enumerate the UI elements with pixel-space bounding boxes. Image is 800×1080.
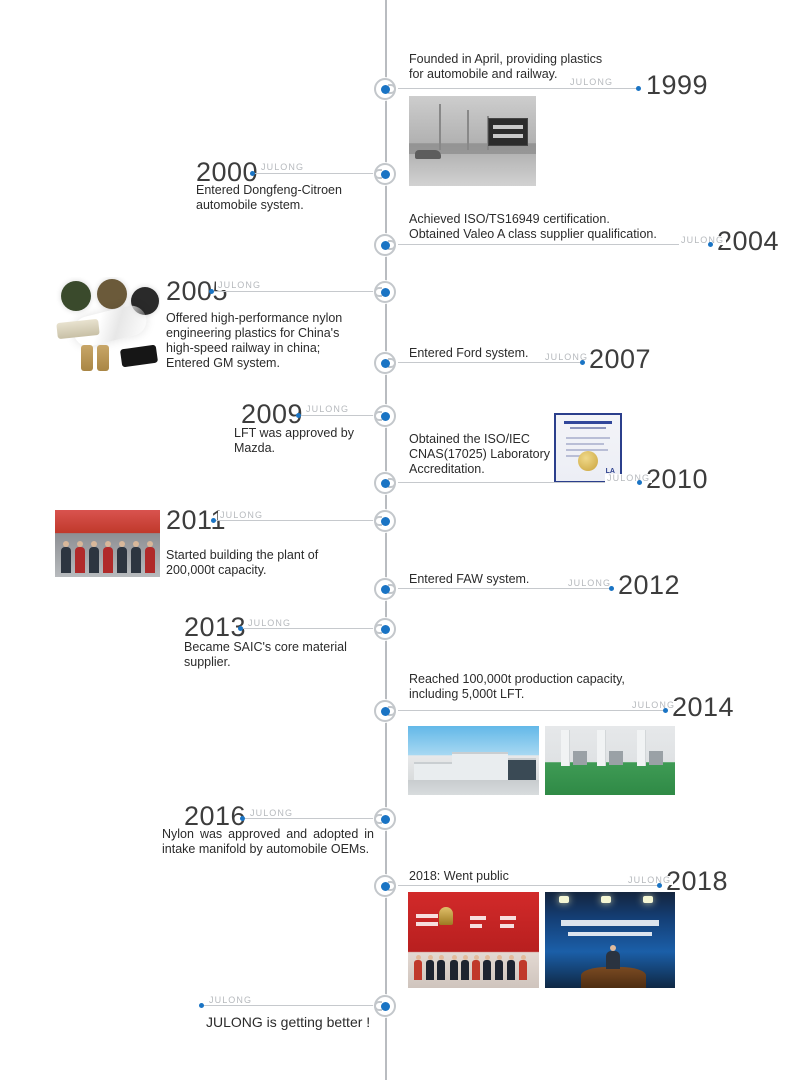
watermark-closing: JULONG (207, 996, 254, 1005)
photo-caption-strip (470, 924, 482, 928)
connector-rule-2014 (398, 710, 664, 711)
node-tab-icon (374, 1001, 382, 1011)
watermark-2010: JULONG (605, 474, 652, 483)
photo-person (61, 547, 71, 573)
connector-rule-2004 (398, 244, 708, 245)
event-description-2004: Achieved ISO/TS16949 certification. Obta… (409, 212, 699, 242)
connector-rule-2012 (398, 588, 610, 589)
node-tab-icon (388, 881, 396, 891)
connector-rule-closing (199, 1005, 374, 1006)
event-description-2018: 2018: Went public (409, 869, 629, 884)
watermark-2016: JULONG (248, 809, 295, 818)
node-tab-icon (388, 478, 396, 488)
photo-screen-title (561, 920, 660, 926)
connector-rule-2007 (398, 362, 580, 363)
photo-person (75, 547, 85, 573)
year-dot-2014 (663, 708, 668, 713)
photo-machine (573, 751, 587, 765)
event-description-2005: Offered high-performance nylon engineeri… (166, 311, 376, 371)
year-dot-2011 (211, 518, 216, 523)
year-dot-2000 (250, 171, 255, 176)
timeline-node-2013[interactable] (374, 618, 396, 640)
year-dot-closing (199, 1003, 204, 1008)
photo-column (597, 730, 606, 766)
timeline-node-2000[interactable] (374, 163, 396, 185)
year-label-2007: 2007 (589, 346, 651, 373)
photo-person (426, 960, 434, 980)
event-photo-2011 (55, 510, 160, 577)
photo-person (472, 960, 480, 980)
timeline-node-2005[interactable] (374, 281, 396, 303)
year-dot-2018 (657, 883, 662, 888)
year-label-2000: 2000 (196, 159, 258, 186)
connector-rule-2011 (211, 520, 374, 521)
watermark-2012: JULONG (566, 579, 613, 588)
photo-lamp (601, 896, 611, 903)
timeline-infographic: Founded in April, providing plastics for… (0, 0, 800, 1080)
connector-rule-2009 (296, 415, 374, 416)
event-photo-1999 (409, 96, 536, 186)
certificate-text-line (566, 443, 604, 445)
watermark-2000: JULONG (259, 163, 306, 172)
year-label-2013: 2013 (184, 614, 246, 641)
certificate-seal (578, 451, 598, 471)
year-dot-2016 (240, 816, 245, 821)
photo-pole (439, 104, 441, 150)
event-description-2012: Entered FAW system. (409, 572, 589, 587)
event-description-2009: LFT was approved by Mazda. (234, 426, 384, 456)
photo-ground (408, 780, 539, 795)
photo-person (606, 951, 620, 969)
year-dot-2005 (209, 289, 214, 294)
node-tab-icon (388, 706, 396, 716)
connector-rule-2010 (398, 482, 638, 483)
photo-person (89, 547, 99, 573)
product-rod (81, 345, 93, 371)
node-tab-icon (388, 84, 396, 94)
timeline-node-2014[interactable] (374, 700, 396, 722)
closing-statement: JULONG is getting better ! (206, 1014, 436, 1031)
event-description-2016: Nylon was approved and adopted in intake… (162, 827, 374, 857)
timeline-node-2012[interactable] (374, 578, 396, 600)
photo-person (117, 547, 127, 573)
year-label-2012: 2012 (618, 572, 680, 599)
timeline-node-2009[interactable] (374, 405, 396, 427)
timeline-node-1999[interactable] (374, 78, 396, 100)
photo-building (414, 762, 452, 780)
photo-building (452, 752, 508, 780)
node-tab-icon (374, 411, 382, 421)
sign-text-line (493, 125, 523, 129)
certificate-header-bar (564, 421, 612, 424)
timeline-node-2007[interactable] (374, 352, 396, 374)
product-rod (97, 345, 109, 371)
certificate-subheader-bar (570, 427, 606, 429)
node-tab-icon (374, 287, 382, 297)
timeline-node-2011[interactable] (374, 510, 396, 532)
photo-caption-strip (416, 914, 438, 918)
timeline-node-2016[interactable] (374, 808, 396, 830)
photo-caption-strip (470, 916, 486, 920)
photo-person (437, 960, 445, 980)
event-photo-2014-workshop (545, 726, 675, 795)
product-thumb (61, 281, 91, 311)
timeline-spine (385, 0, 387, 1080)
photo-person (103, 547, 113, 573)
photo-machine (649, 751, 663, 765)
connector-rule-2013 (238, 628, 374, 629)
photo-person (414, 960, 422, 980)
event-description-2011: Started building the plant of 200,000t c… (166, 548, 381, 578)
watermark-2011: JULONG (218, 511, 265, 520)
photo-bell (439, 907, 453, 925)
timeline-node-2010[interactable] (374, 472, 396, 494)
watermark-2018: JULONG (626, 876, 673, 885)
watermark-2004: JULONG (679, 236, 726, 245)
event-description-2010: Obtained the ISO/IEC CNAS(17025) Laborat… (409, 432, 559, 477)
photo-column (561, 730, 570, 766)
timeline-node-2004[interactable] (374, 234, 396, 256)
photo-lamp (643, 896, 653, 903)
year-dot-2012 (609, 586, 614, 591)
year-label-2014: 2014 (672, 694, 734, 721)
year-label-2004: 2004 (717, 228, 779, 255)
timeline-node-2018[interactable] (374, 875, 396, 897)
photo-car (415, 150, 441, 159)
sign-text-line (493, 134, 523, 138)
timeline-node-closing[interactable] (374, 995, 396, 1017)
photo-person (450, 960, 458, 980)
product-block (120, 345, 158, 368)
product-thumb (97, 279, 127, 309)
year-dot-2004 (708, 242, 713, 247)
connector-rule-2005 (209, 291, 374, 292)
photo-person (519, 960, 527, 980)
year-label-2016: 2016 (184, 803, 246, 830)
photo-person (131, 547, 141, 573)
photo-caption-strip (500, 916, 516, 920)
photo-logo (473, 734, 529, 756)
photo-screen-subtitle (568, 932, 651, 936)
year-label-2010: 2010 (646, 466, 708, 493)
event-description-2014: Reached 100,000t production capacity, in… (409, 672, 679, 702)
photo-pole (467, 110, 469, 150)
event-description-2000: Entered Dongfeng-Citroen automobile syst… (196, 183, 396, 213)
event-description-2013: Became SAIC's core material supplier. (184, 640, 394, 670)
photo-person (461, 960, 469, 980)
year-label-1999: 1999 (646, 72, 708, 99)
node-tab-icon (388, 584, 396, 594)
photo-caption-strip (500, 924, 514, 928)
watermark-2009: JULONG (304, 405, 351, 414)
watermark-1999: JULONG (568, 78, 615, 87)
connector-rule-2018 (398, 885, 658, 886)
photo-person (483, 960, 491, 980)
photo-sign (488, 118, 528, 146)
photo-building (508, 758, 536, 780)
photo-person (145, 547, 155, 573)
photo-machine (609, 751, 623, 765)
event-photo-2018-roadshow (545, 892, 675, 988)
node-tab-icon (388, 240, 396, 250)
node-tab-icon (388, 358, 396, 368)
year-dot-1999 (636, 86, 641, 91)
photo-column (637, 730, 646, 766)
node-tab-icon (374, 169, 382, 179)
photo-person (495, 960, 503, 980)
node-tab-icon (374, 814, 382, 824)
watermark-2005: JULONG (216, 281, 263, 290)
photo-lamp (559, 896, 569, 903)
watermark-2014: JULONG (630, 701, 677, 710)
year-dot-2010 (637, 480, 642, 485)
node-tab-icon (374, 516, 382, 526)
year-dot-2013 (238, 626, 243, 631)
event-photo-2014-exterior (408, 726, 539, 795)
certificate-text-line (566, 437, 610, 439)
photo-person (507, 960, 515, 980)
year-label-2009: 2009 (241, 401, 303, 428)
event-photo-2005 (55, 277, 160, 375)
event-photo-2018-bell-ceremony (408, 892, 539, 988)
year-label-2018: 2018 (666, 868, 728, 895)
node-tab-icon (374, 624, 382, 634)
watermark-2013: JULONG (246, 619, 293, 628)
connector-rule-2000 (250, 173, 374, 174)
connector-rule-2016 (240, 818, 374, 819)
year-dot-2007 (580, 360, 585, 365)
photo-caption-strip (416, 922, 438, 926)
photo-desk (581, 967, 646, 988)
connector-rule-1999 (398, 88, 638, 89)
year-dot-2009 (296, 413, 301, 418)
